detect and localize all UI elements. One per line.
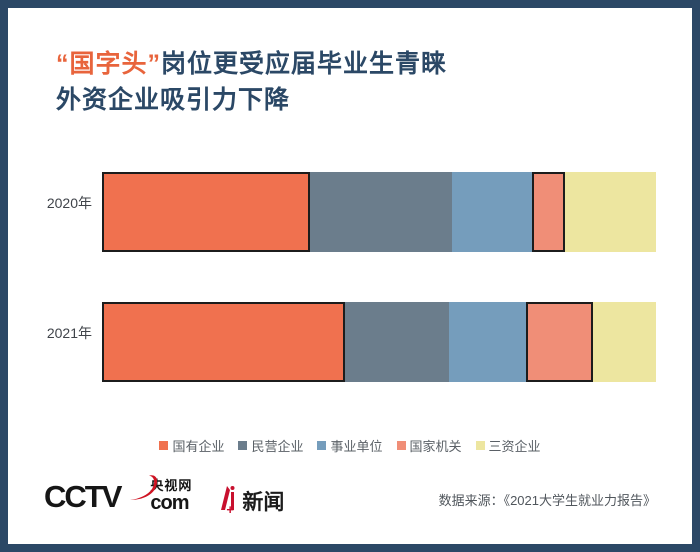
ai-mark-icon: + <box>218 484 240 514</box>
bar-segment-国有企业 <box>102 302 345 382</box>
cctv-wordmark: CCTV <box>44 481 120 512</box>
bar-segment-民营企业 <box>345 302 449 382</box>
infographic-canvas: “国字头”岗位更受应届毕业生青睐 外资企业吸引力下降 2020年 2021年 国… <box>0 0 700 552</box>
legend-swatch-icon <box>476 441 485 450</box>
legend-label: 国家机关 <box>410 436 462 455</box>
chart-row-2021: 2021年 <box>8 288 692 378</box>
legend-swatch-icon <box>397 441 406 450</box>
legend-swatch-icon <box>317 441 326 450</box>
row-label-2021: 2021年 <box>18 288 92 378</box>
bar-segment-三资企业 <box>593 302 656 382</box>
title-line-2: 外资企业吸引力下降 <box>56 82 636 118</box>
legend-label: 国有企业 <box>172 436 224 455</box>
ai-news-logo: + 新闻 <box>218 478 284 514</box>
footer-logos: CCTV 央视网 com <box>44 476 284 516</box>
page-title: “国字头”岗位更受应届毕业生青睐 外资企业吸引力下降 <box>56 46 636 118</box>
title-quote-open: “ <box>56 50 70 78</box>
title-quote-close: ” <box>148 50 162 78</box>
bar-track-2020 <box>102 172 656 252</box>
footer: CCTV 央视网 com <box>8 472 692 528</box>
legend-item-事业单位[interactable]: 事业单位 <box>317 436 382 455</box>
cctv-logo: CCTV 央视网 com <box>44 476 192 516</box>
bar-segment-国有企业 <box>102 172 310 252</box>
legend-label: 民营企业 <box>251 436 303 455</box>
bar-track-2021 <box>102 302 656 382</box>
row-label-2020: 2020年 <box>18 158 92 248</box>
legend-item-国家机关[interactable]: 国家机关 <box>397 436 462 455</box>
data-source-note: 数据来源：《2021大学生就业力报告》 <box>439 490 656 509</box>
legend-item-民营企业[interactable]: 民营企业 <box>238 436 303 455</box>
legend-item-国有企业[interactable]: 国有企业 <box>159 436 224 455</box>
title-accent-text: 国字头 <box>70 50 148 78</box>
bar-segment-国家机关 <box>532 172 565 252</box>
bar-segment-事业单位 <box>449 302 526 382</box>
ai-plus-sign: + <box>226 503 234 516</box>
legend-swatch-icon <box>238 441 247 450</box>
bar-segment-三资企业 <box>565 172 656 252</box>
chart-legend: 国有企业民营企业事业单位国家机关三资企业 <box>8 436 692 455</box>
legend-label: 三资企业 <box>489 436 541 455</box>
title-line-1-rest: 岗位更受应届毕业生青睐 <box>161 50 447 78</box>
infographic-inner: “国字头”岗位更受应届毕业生青睐 外资企业吸引力下降 2020年 2021年 国… <box>8 8 692 544</box>
legend-label: 事业单位 <box>330 436 382 455</box>
stacked-bar-chart: 2020年 2021年 <box>8 158 692 428</box>
bar-segment-民营企业 <box>310 172 452 252</box>
title-line-1: “国字头”岗位更受应届毕业生青睐 <box>56 46 636 82</box>
legend-swatch-icon <box>159 441 168 450</box>
cctv-swoosh-icon <box>128 474 162 504</box>
bar-segment-事业单位 <box>452 172 532 252</box>
ai-news-text: 新闻 <box>242 492 284 514</box>
bar-segment-国家机关 <box>526 302 593 382</box>
chart-row-2020: 2020年 <box>8 158 692 248</box>
legend-item-三资企业[interactable]: 三资企业 <box>476 436 541 455</box>
